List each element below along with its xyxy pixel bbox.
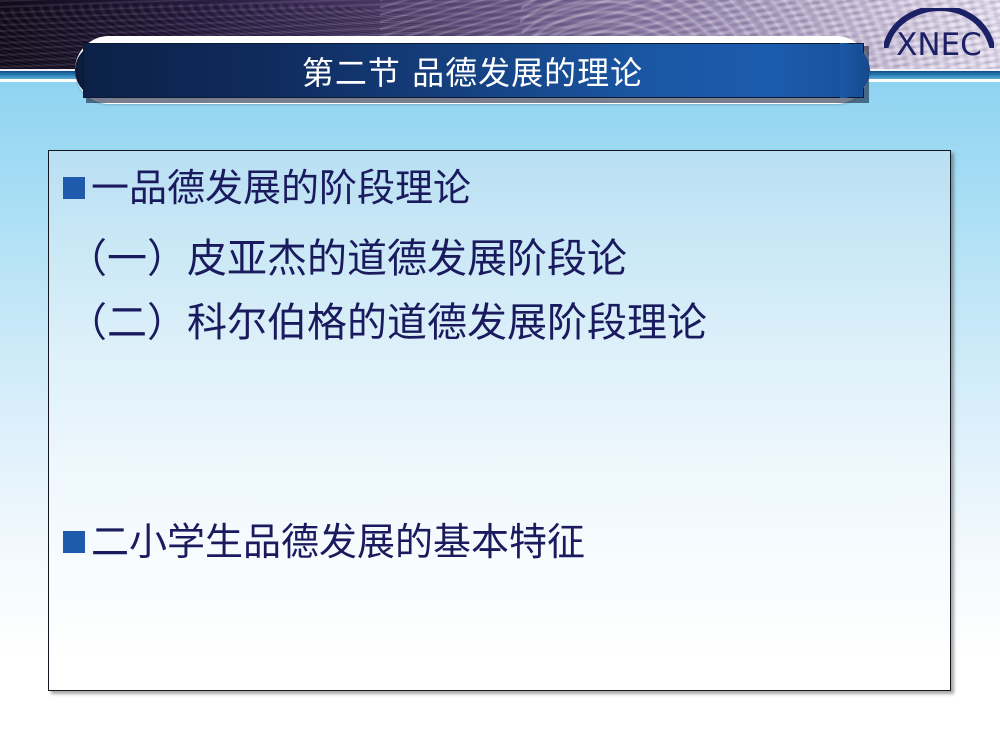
- sub-item-2: （二）科尔伯格的道德发展阶段理论: [67, 303, 707, 343]
- sub-item-1: （一）皮亚杰的道德发展阶段论: [67, 239, 627, 279]
- slide-title: 第二节 品德发展的理论: [75, 43, 870, 98]
- bullet-item-2-label: 二小学生品德发展的基本特征: [91, 523, 585, 561]
- xnec-logo: XNEC: [884, 8, 994, 70]
- logo-wordmark: XNEC: [884, 30, 994, 61]
- square-bullet-icon: [63, 531, 85, 553]
- sub-item-2-label: （二）科尔伯格的道德发展阶段理论: [67, 303, 707, 343]
- presentation-slide: 第二节 品德发展的理论 XNEC 一品德发展的阶段理论 （一）皮亚杰的道德发展阶…: [0, 0, 1000, 750]
- bullet-item-2: 二小学生品德发展的基本特征: [63, 523, 585, 561]
- square-bullet-icon: [63, 177, 85, 199]
- sub-item-1-label: （一）皮亚杰的道德发展阶段论: [67, 239, 627, 279]
- content-text-box: 一品德发展的阶段理论 （一）皮亚杰的道德发展阶段论 （二）科尔伯格的道德发展阶段…: [48, 150, 951, 691]
- bullet-item-1-label: 一品德发展的阶段理论: [91, 169, 471, 207]
- bullet-item-1: 一品德发展的阶段理论: [63, 169, 471, 207]
